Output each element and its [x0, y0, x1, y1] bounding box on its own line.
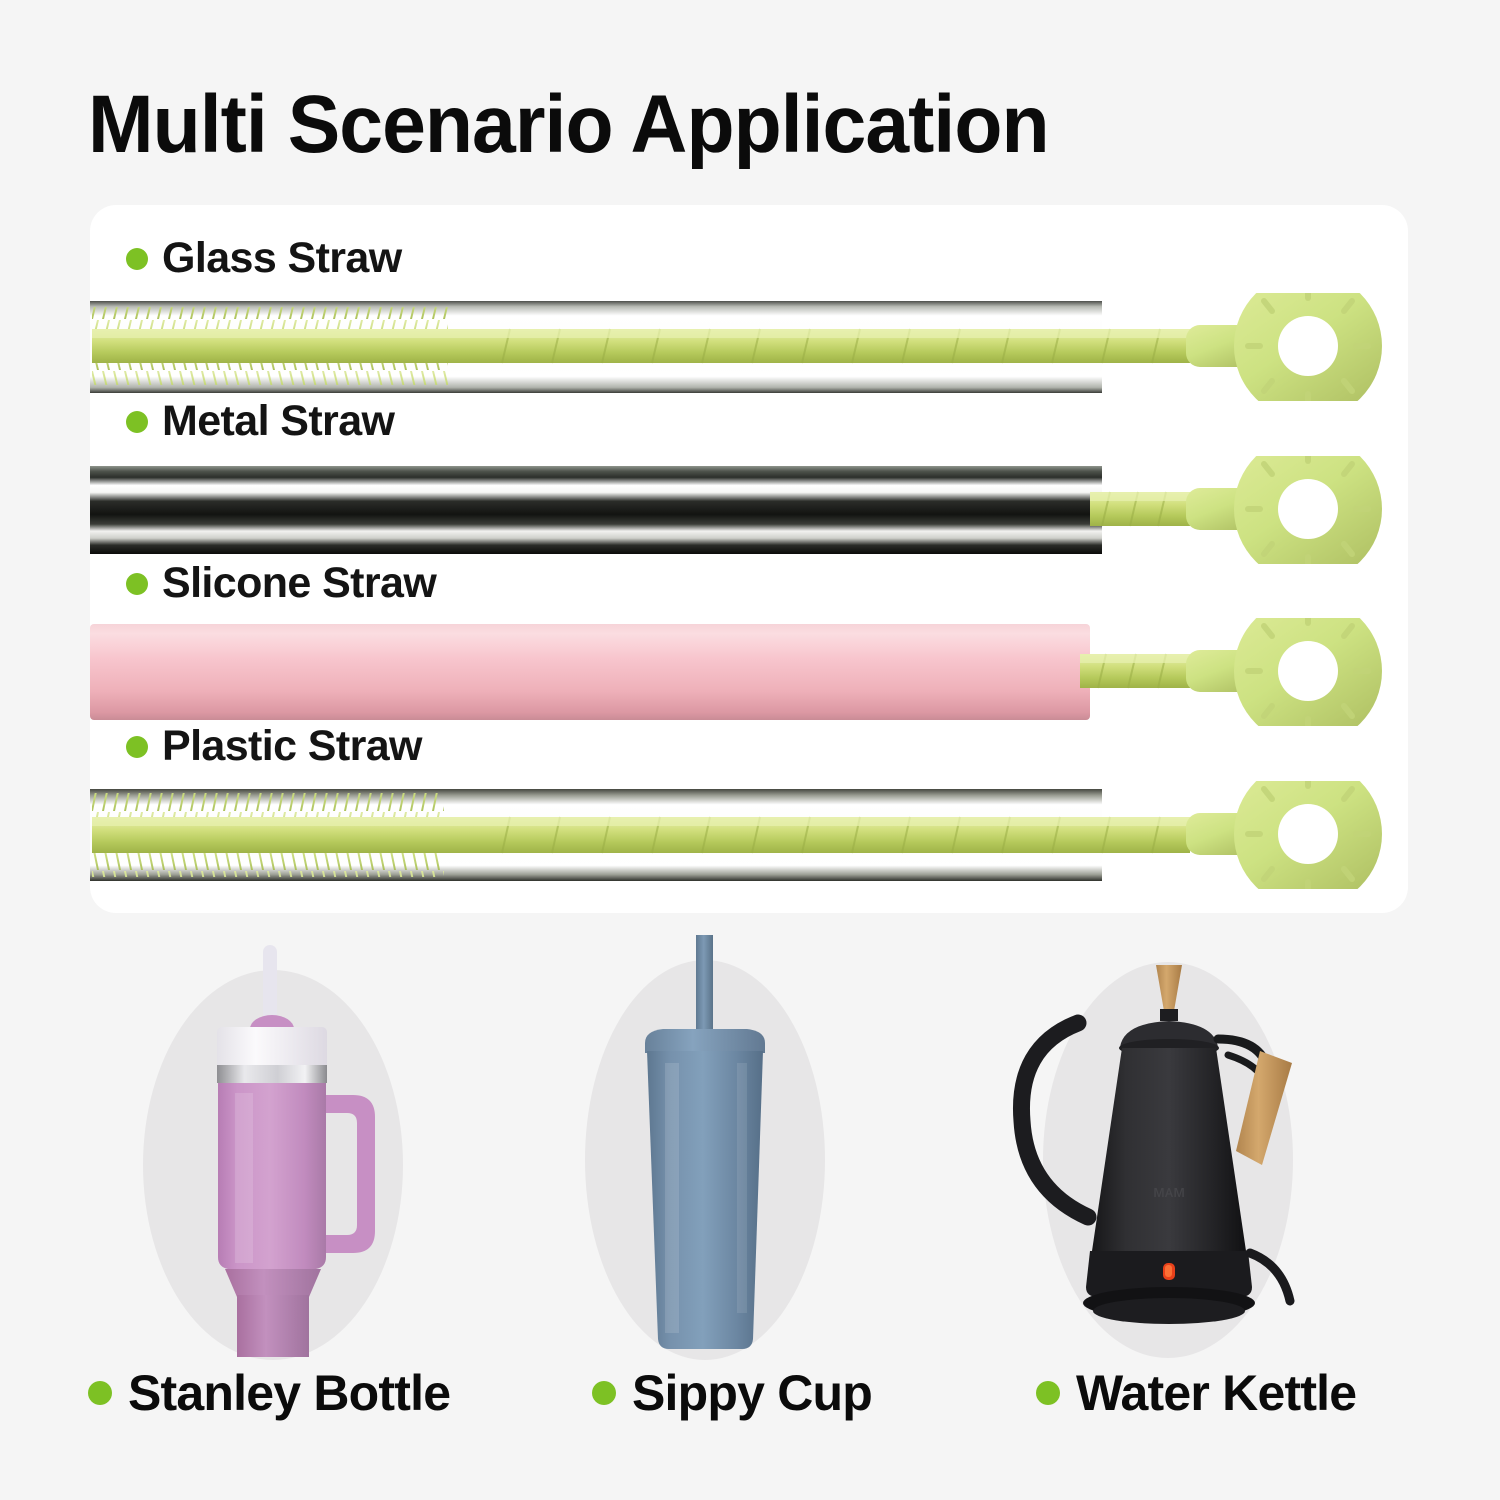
- bullet-icon: [592, 1381, 616, 1405]
- donut-handle: [1186, 618, 1382, 726]
- bullet-icon: [126, 736, 148, 758]
- straw-graphic-silicone: [90, 618, 1408, 726]
- donut-handle: [1186, 293, 1382, 401]
- scene-label-text: Water Kettle: [1076, 1368, 1356, 1418]
- donut-handle: [1186, 456, 1382, 564]
- straw-label-text: Glass Straw: [162, 237, 402, 280]
- scene-label-text: Stanley Bottle: [128, 1368, 450, 1418]
- lid: [645, 1029, 765, 1053]
- straw-label-metal: Metal Straw: [126, 400, 394, 443]
- straw: [263, 945, 277, 1023]
- bullet-icon: [126, 411, 148, 433]
- steel-ring: [217, 1065, 327, 1083]
- straw-row-glass: Glass Straw: [90, 237, 1408, 397]
- straw-row-metal: Metal Straw: [90, 400, 1408, 560]
- straw-label-silicone: Slicone Straw: [126, 562, 436, 605]
- straw-label-text: Plastic Straw: [162, 725, 422, 768]
- straw-row-silicone: Slicone Straw: [90, 562, 1408, 722]
- bullet-icon: [126, 573, 148, 595]
- scene-label-text: Sippy Cup: [632, 1368, 872, 1418]
- straw: [696, 935, 713, 1043]
- scene-label-water-kettle: Water Kettle: [1036, 1368, 1356, 1418]
- straw-graphic-glass: [90, 293, 1408, 401]
- bullet-icon: [126, 248, 148, 270]
- scene-label-sippy-cup: Sippy Cup: [592, 1368, 872, 1418]
- bottle-base: [237, 1295, 309, 1357]
- scene-stanley-bottle: [85, 935, 505, 1365]
- bottle-body: [218, 1083, 326, 1269]
- straw-graphic-metal: [90, 456, 1408, 564]
- kettle-logo: ᴍᴀᴍ: [1153, 1182, 1185, 1201]
- page-title: Multi Scenario Application: [88, 84, 1049, 166]
- bullet-icon: [88, 1381, 112, 1405]
- straw-label-plastic: Plastic Straw: [126, 725, 422, 768]
- straw-label-text: Metal Straw: [162, 400, 394, 443]
- straw-label-glass: Glass Straw: [126, 237, 402, 280]
- scene-label-stanley-bottle: Stanley Bottle: [88, 1368, 450, 1418]
- straw-comparison-card: Glass Straw: [90, 205, 1408, 913]
- lid: [217, 1027, 327, 1069]
- scene-sippy-cup: [497, 935, 917, 1365]
- scene-water-kettle: ᴍᴀᴍ: [960, 935, 1380, 1365]
- bullet-icon: [1036, 1381, 1060, 1405]
- straw-graphic-plastic: [90, 781, 1408, 889]
- straw-label-text: Slicone Straw: [162, 562, 436, 605]
- donut-handle: [1186, 781, 1382, 889]
- straw-row-plastic: Plastic Straw: [90, 725, 1408, 885]
